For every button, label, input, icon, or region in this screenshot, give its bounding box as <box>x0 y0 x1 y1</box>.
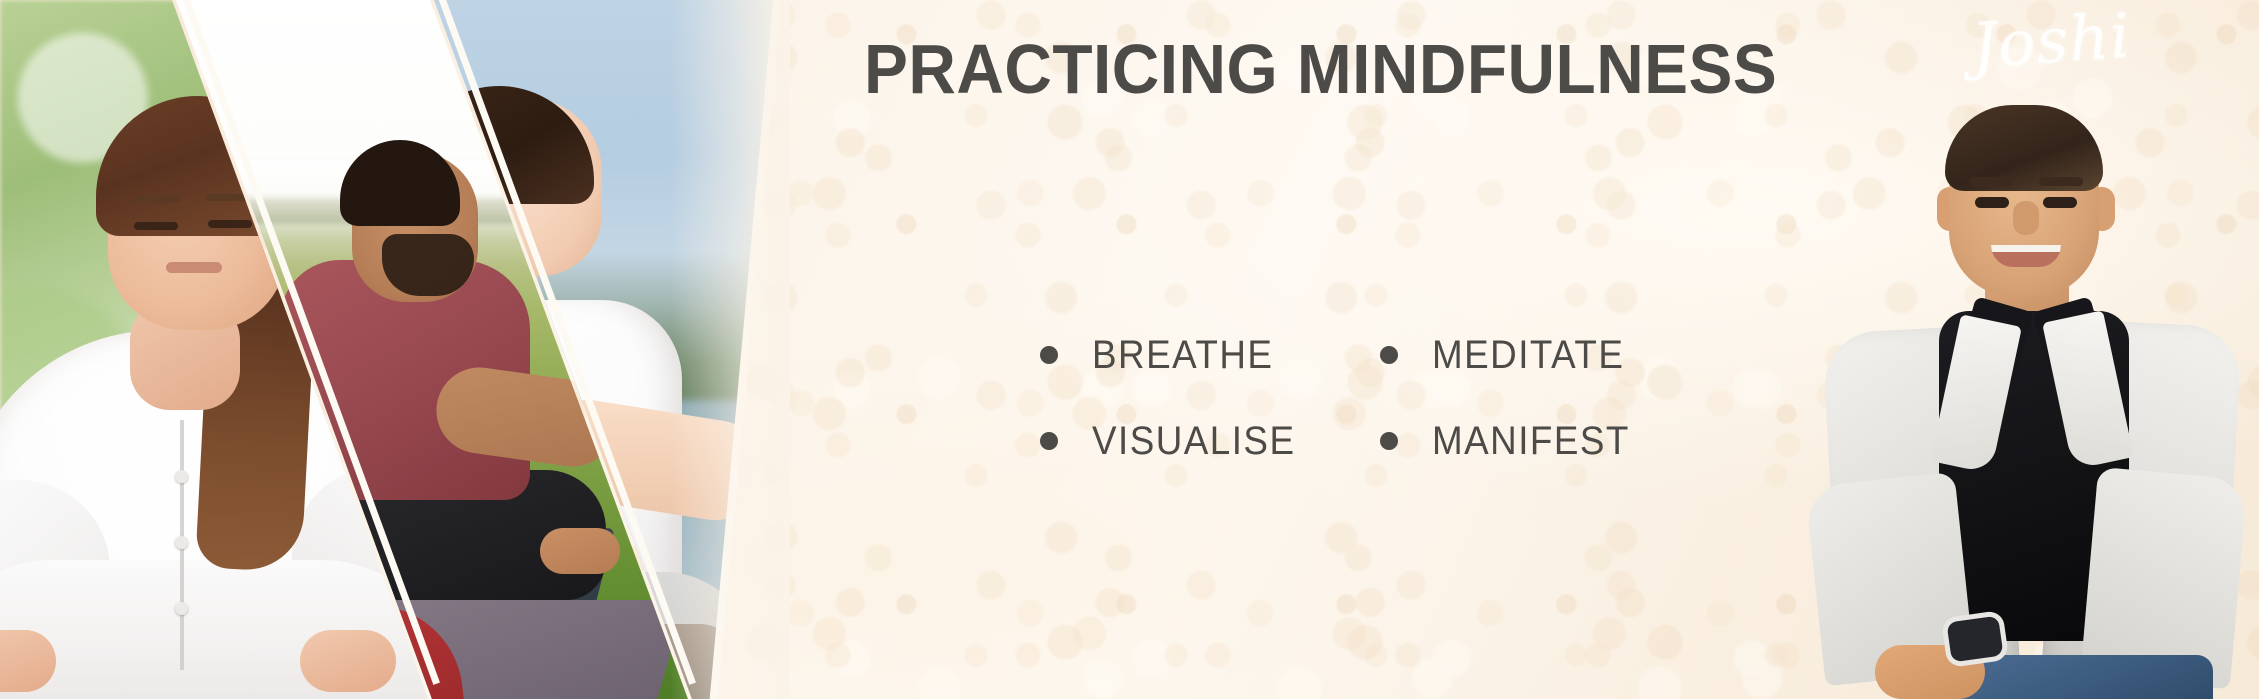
panel1-shirt-button <box>175 602 188 615</box>
portrait-eyebrow-left <box>1969 177 2013 186</box>
bullet-dot-icon <box>1040 346 1058 364</box>
mindfulness-banner: PRACTICING MINDFULNESS BREATHE VISUALISE… <box>0 0 2259 699</box>
panel1-eye-right <box>208 220 252 228</box>
list-item: MEDITATE <box>1380 312 1647 398</box>
list-item: BREATHE <box>1040 312 1313 398</box>
benefits-list-left: BREATHE VISUALISE <box>1040 312 1313 484</box>
portrait-nose <box>2013 201 2039 235</box>
presenter-portrait <box>1789 79 2259 699</box>
benefits-list-right: MEDITATE MANIFEST <box>1380 312 1647 484</box>
panel2-beard <box>382 234 474 296</box>
panel1-shirt-button <box>175 470 188 483</box>
panel1-eyebrow-left <box>134 196 180 203</box>
list-item-label: BREATHE <box>1092 333 1273 378</box>
panel1-mouth <box>166 262 222 273</box>
list-item: VISUALISE <box>1040 398 1313 484</box>
portrait-smile <box>1991 245 2061 267</box>
bullet-dot-icon <box>1380 346 1398 364</box>
portrait-smartwatch <box>1946 616 2003 663</box>
bullet-dot-icon <box>1380 432 1398 450</box>
panel1-shirt-button <box>175 536 188 549</box>
panel1-eye-left <box>134 222 178 230</box>
list-item-label: MEDITATE <box>1432 333 1624 378</box>
panel2-foot <box>540 528 620 574</box>
list-item-label: VISUALISE <box>1092 419 1295 464</box>
portrait-eye-right <box>2043 197 2077 208</box>
page-title: PRACTICING MINDFULNESS <box>864 34 1777 104</box>
panel1-eyebrow-right <box>206 194 252 201</box>
panel1-hand-right <box>300 630 396 692</box>
bullet-dot-icon <box>1040 432 1058 450</box>
portrait-eye-left <box>1975 197 2009 208</box>
portrait-eyebrow-right <box>2039 177 2083 186</box>
list-item-label: MANIFEST <box>1432 419 1630 464</box>
photo-collage <box>0 0 790 699</box>
list-item: MANIFEST <box>1380 398 1647 484</box>
